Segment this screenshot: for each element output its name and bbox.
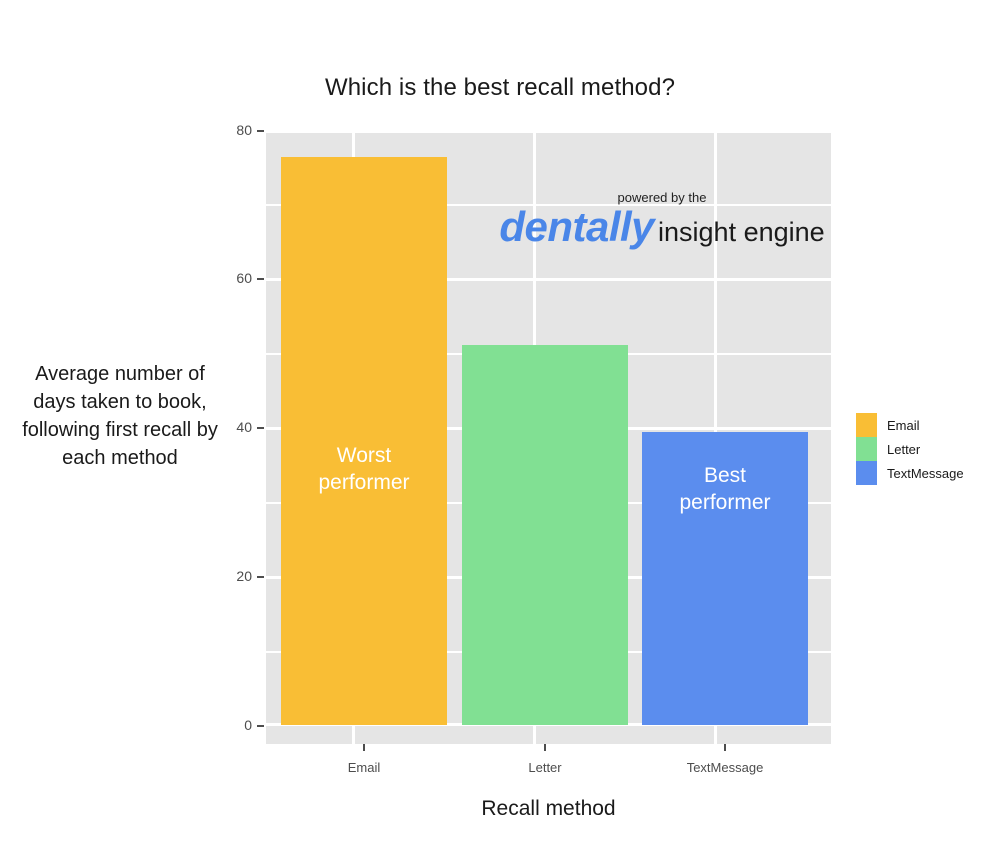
legend-item-email[interactable]: Email [856,413,964,437]
watermark-brand: dentally [499,203,654,250]
chart-container: Which is the best recall method? Worst p… [0,0,1000,856]
y-axis-title: Average number of days taken to book, fo… [20,360,220,472]
watermark-product: insight engine [658,217,825,247]
legend-label-email: Email [887,418,920,433]
bar-email[interactable]: Worst performer [281,157,447,725]
x-tick-mark-letter [544,744,546,751]
bar-textmessage[interactable]: Best performer [642,432,808,725]
y-tick-label-0: 0 [218,717,252,733]
legend-swatch-letter [856,437,877,461]
legend: Email Letter TextMessage [856,413,964,485]
legend-label-letter: Letter [887,442,920,457]
legend-item-textmessage[interactable]: TextMessage [856,461,964,485]
y-tick-label-80: 80 [218,122,252,138]
legend-swatch-email [856,413,877,437]
legend-label-textmessage: TextMessage [887,466,964,481]
x-tick-label-letter: Letter [455,760,635,775]
x-axis-title: Recall method [266,797,831,821]
plot-panel: Worst performer Best performer powered b… [266,130,831,744]
x-tick-label-textmessage: TextMessage [635,760,815,775]
y-tick-mark-20 [257,576,264,578]
x-tick-mark-textmessage [724,744,726,751]
watermark-logo: powered by the dentallyinsight engine [492,190,831,248]
bar-annotation-textmessage: Best performer [642,462,808,516]
y-tick-mark-40 [257,427,264,429]
gridline-y-80 [266,130,831,133]
chart-title: Which is the best recall method? [0,74,1000,102]
y-tick-label-40: 40 [218,419,252,435]
y-tick-mark-80 [257,130,264,132]
bar-annotation-email: Worst performer [281,442,447,496]
x-tick-label-email: Email [274,760,454,775]
y-tick-mark-0 [257,725,264,727]
y-tick-mark-60 [257,278,264,280]
legend-item-letter[interactable]: Letter [856,437,964,461]
legend-swatch-textmessage [856,461,877,485]
y-tick-label-20: 20 [218,568,252,584]
x-tick-mark-email [363,744,365,751]
y-tick-label-60: 60 [218,270,252,286]
watermark-powered-by: powered by the [492,190,831,205]
watermark-wordmark: dentallyinsight engine [492,206,831,248]
bar-letter[interactable] [462,345,628,725]
